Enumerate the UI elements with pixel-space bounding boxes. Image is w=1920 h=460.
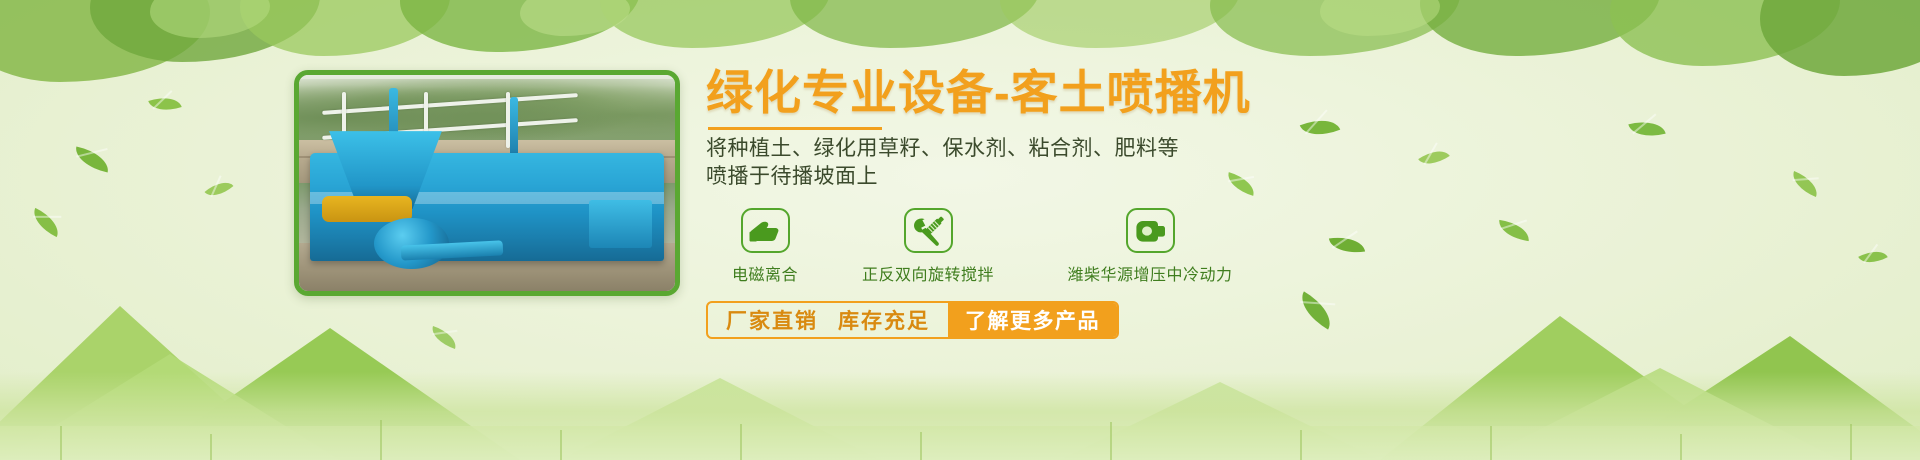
cta-bar: 厂家直销 库存充足 了解更多产品 — [706, 301, 1119, 339]
grass-sprig — [1300, 430, 1302, 460]
feature-label: 正反双向旋转搅拌 — [824, 261, 1032, 285]
cta-tags: 厂家直销 库存充足 — [708, 303, 948, 337]
cta-tag-direct-sale: 厂家直销 — [726, 305, 818, 335]
grass-band-decoration — [0, 372, 1920, 460]
grass-sprig — [210, 434, 212, 460]
wrench-screwdriver-icon — [904, 208, 953, 253]
grass-sprig — [380, 420, 382, 460]
promo-banner: 绿化专业设备-客土喷播机 将种植土、绿化用草籽、保水剂、粘合剂、肥料等 喷播于待… — [0, 0, 1920, 460]
grass-sprig — [1850, 424, 1852, 460]
product-photo[interactable] — [294, 70, 680, 296]
description-line-2: 喷播于待播坡面上 — [706, 163, 1406, 191]
grass-sprig — [920, 432, 922, 460]
thumbs-up-icon — [741, 208, 790, 253]
grass-sprig — [1110, 422, 1112, 460]
banner-content: 绿化专业设备-客土喷播机 将种植土、绿化用草籽、保水剂、粘合剂、肥料等 喷播于待… — [706, 68, 1406, 339]
grass-sprig — [560, 430, 562, 460]
grass-sprig — [1680, 434, 1682, 460]
title-divider — [708, 127, 882, 130]
learn-more-button[interactable]: 了解更多产品 — [948, 303, 1117, 337]
grass-sprig — [60, 426, 62, 460]
grass-sprig — [1490, 426, 1492, 460]
feature-list: 电磁离合 — [706, 208, 1406, 285]
page-title: 绿化专业设备-客土喷播机 — [706, 68, 1406, 118]
cta-tag-stock: 库存充足 — [838, 305, 930, 335]
product-photo-image — [299, 75, 675, 291]
engine-icon — [1126, 208, 1175, 253]
grass-sprig — [740, 424, 742, 460]
feature-item-clutch: 电磁离合 — [706, 208, 824, 285]
description-line-1: 将种植土、绿化用草籽、保水剂、粘合剂、肥料等 — [706, 135, 1406, 163]
feature-item-mixing: 正反双向旋转搅拌 — [824, 208, 1032, 285]
feature-item-engine: 潍柴华源增压中冷动力 — [1032, 208, 1268, 285]
feature-label: 电磁离合 — [706, 261, 824, 285]
feature-label: 潍柴华源增压中冷动力 — [1032, 261, 1268, 285]
